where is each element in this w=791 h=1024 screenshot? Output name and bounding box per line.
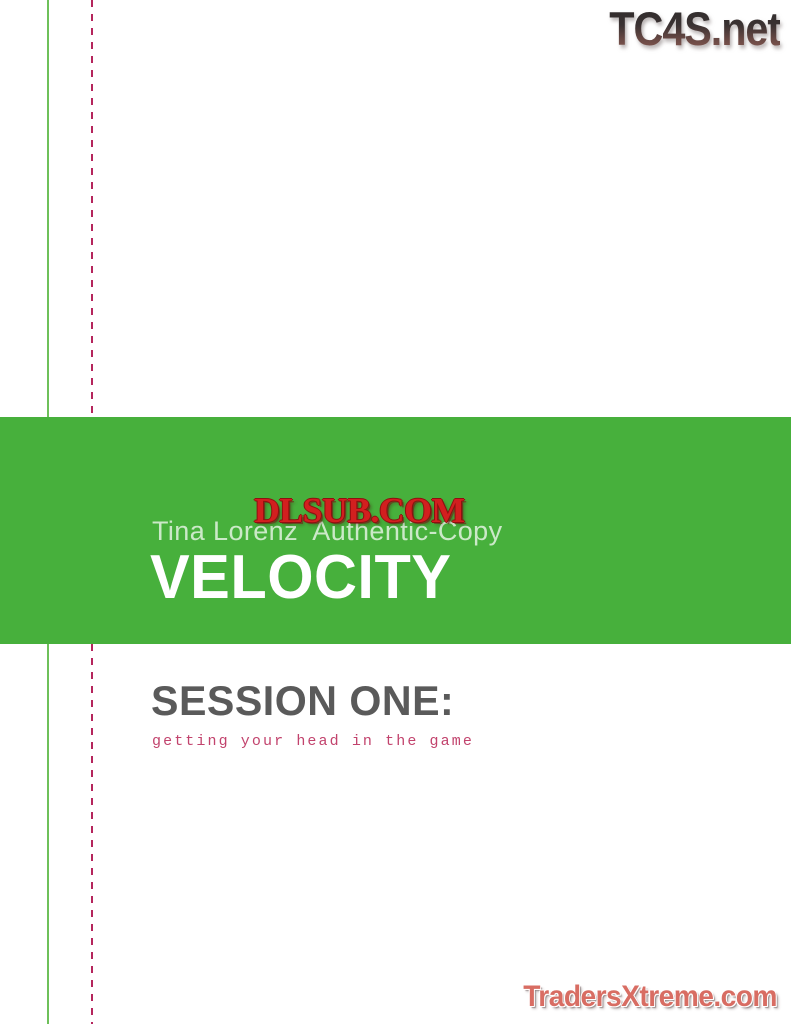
page-title: VELOCITY <box>150 546 451 610</box>
tradersxtreme-brand-logo: TradersXtreme.com <box>523 981 777 1013</box>
dlsub-watermark: DLSUB.COM <box>254 492 465 530</box>
document-page: TC4S.net Tina Lorenz Authentic-Copy VELO… <box>0 0 791 1024</box>
tc4s-brand-logo: TC4S.net <box>609 4 780 54</box>
session-tagline: getting your head in the game <box>152 732 474 752</box>
session-heading: SESSION ONE: <box>151 678 454 724</box>
